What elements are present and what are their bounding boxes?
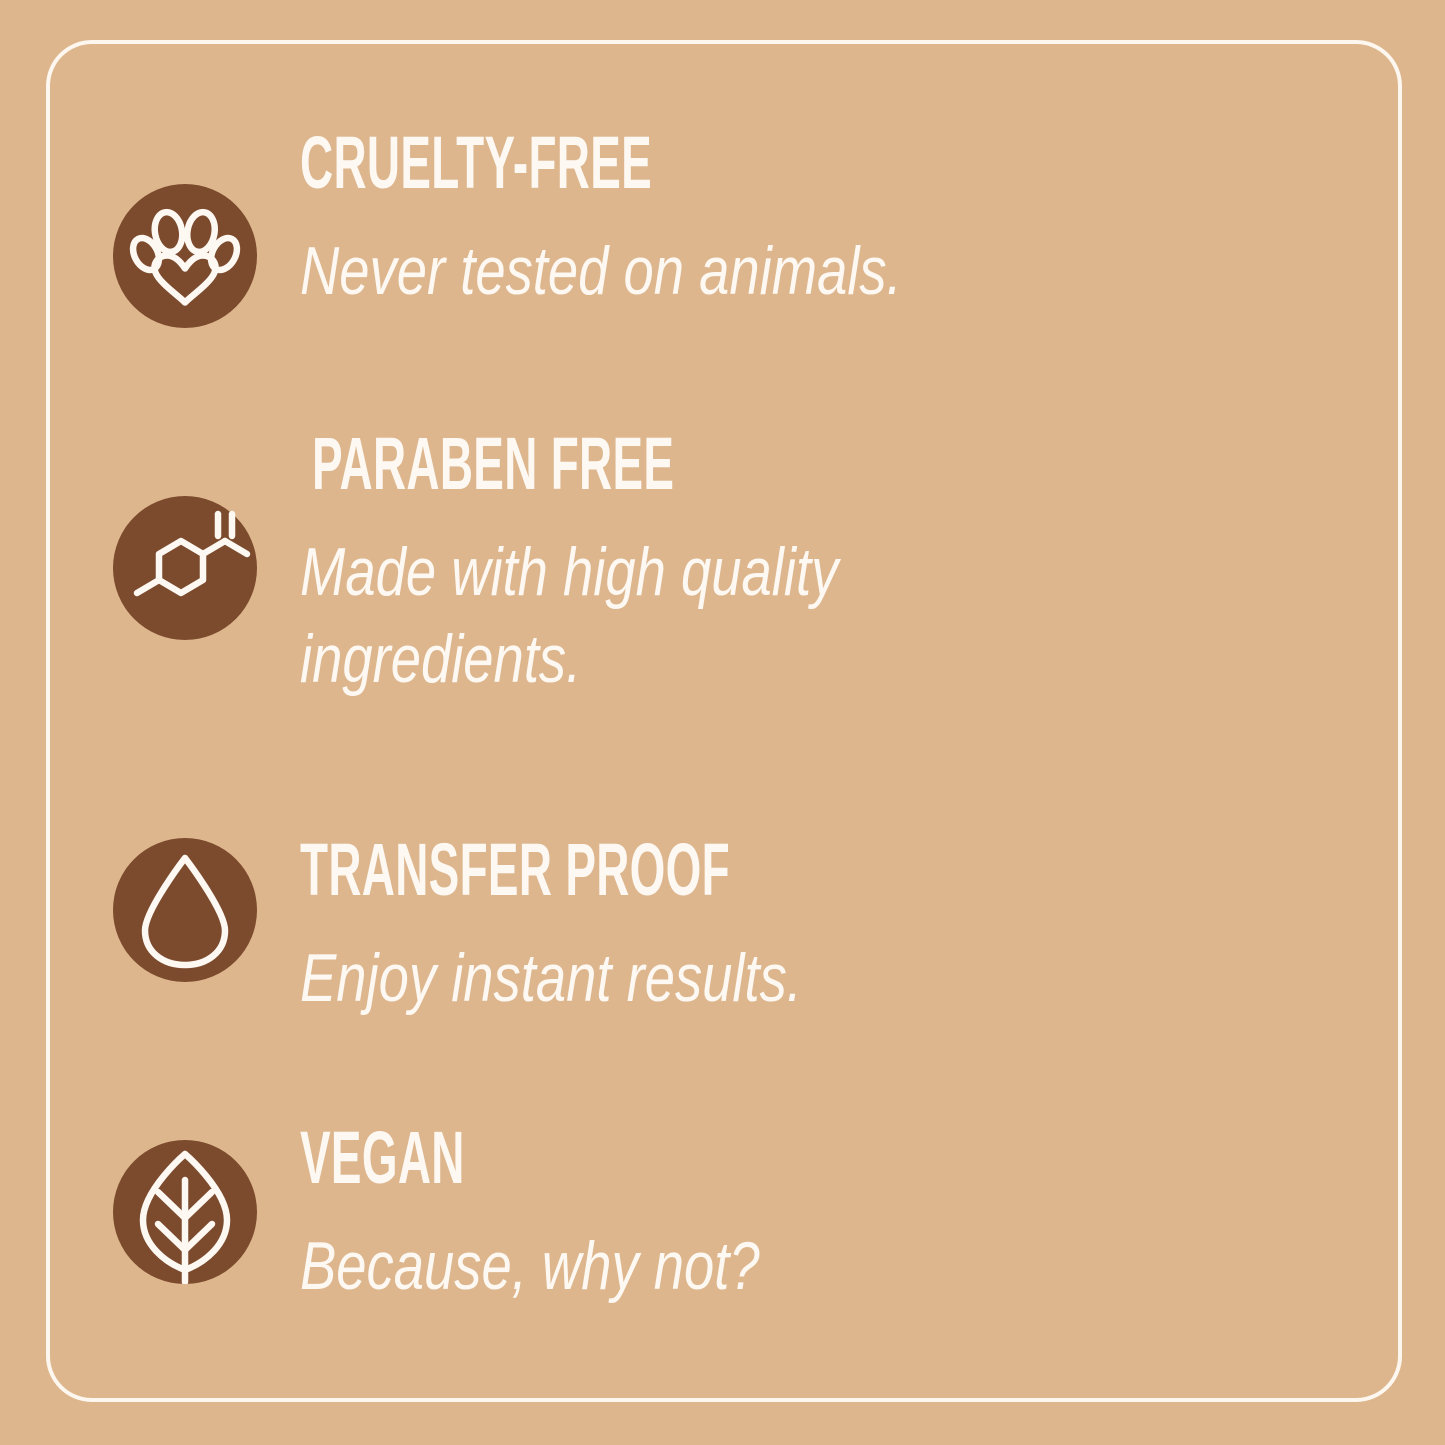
leaf-icon: [113, 1140, 257, 1284]
feature-description: Enjoy instant results.: [300, 935, 855, 1022]
product-benefits-card: CRUELTY-FREE Never tested on animals.: [0, 0, 1445, 1445]
feature-description: Made with high quality ingredients.: [300, 529, 838, 703]
feature-description: Because, why not?: [300, 1223, 760, 1310]
feature-title: VEGAN: [300, 1128, 656, 1189]
feature-description: Never tested on animals.: [300, 228, 902, 315]
feature-text-vegan: VEGAN Because, why not?: [300, 1128, 875, 1310]
paw-print-icon: [113, 184, 257, 328]
feature-text-transfer-proof: TRANSFER PROOF Enjoy instant results.: [300, 840, 994, 1022]
feature-text-paraben-free: PARABEN FREE Made with high quality ingr…: [300, 434, 973, 703]
feature-list: CRUELTY-FREE Never tested on animals.: [0, 0, 1445, 1445]
water-droplet-icon: [113, 838, 257, 982]
feature-title: CRUELTY-FREE: [300, 133, 766, 194]
feature-text-cruelty-free: CRUELTY-FREE Never tested on animals.: [300, 133, 1052, 315]
feature-title: PARABEN FREE: [312, 434, 722, 495]
feature-title: TRANSFER PROOF: [300, 840, 730, 901]
molecule-icon: [113, 496, 257, 640]
